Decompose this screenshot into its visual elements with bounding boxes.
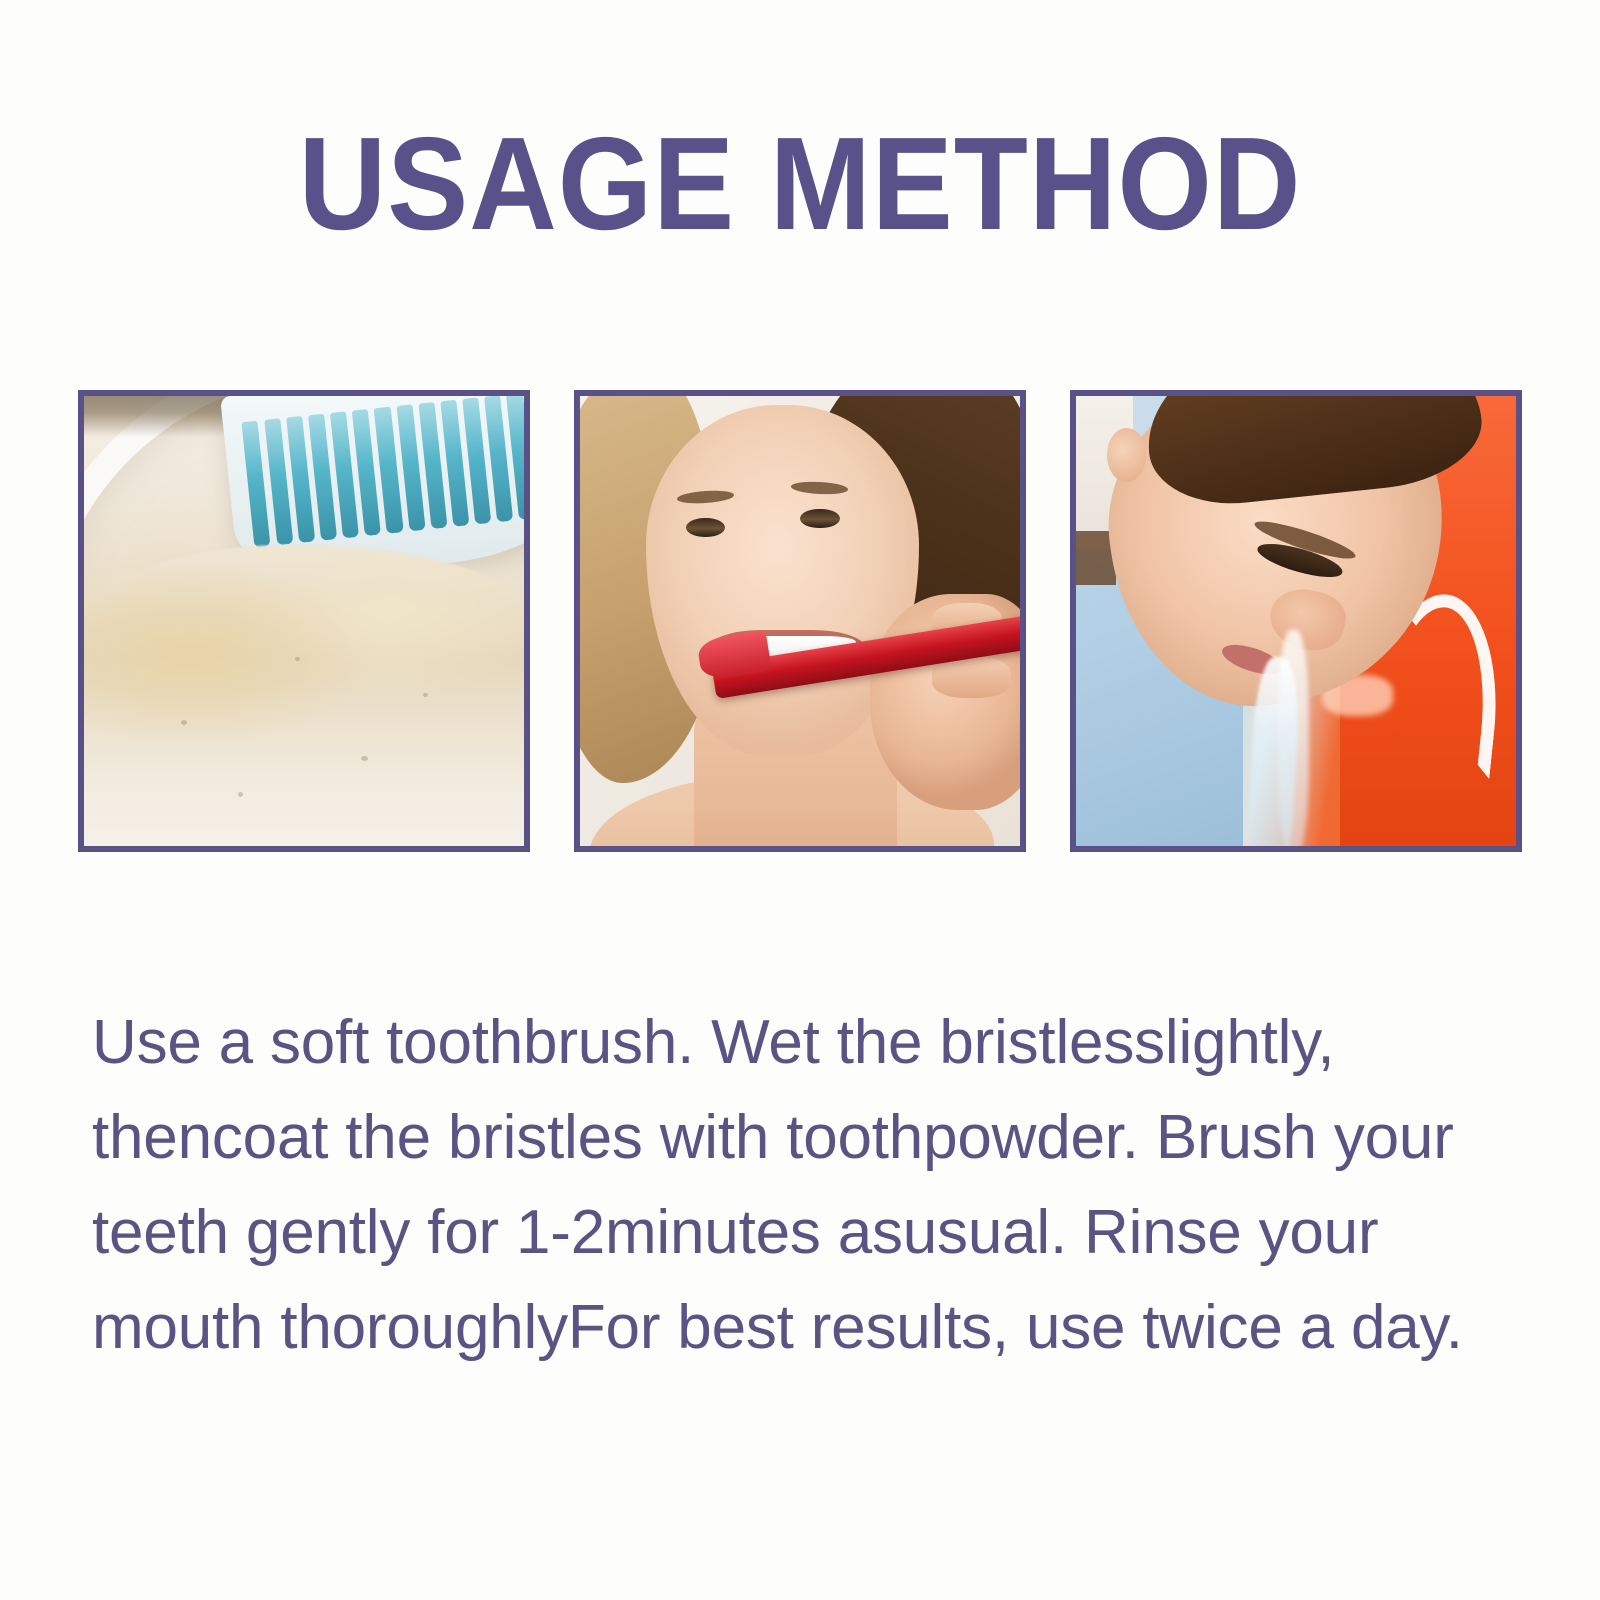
page-title: USAGE METHOD	[299, 118, 1302, 250]
finger	[932, 657, 1011, 698]
usage-instructions: Use a soft toothbrush. Wet the bristless…	[92, 995, 1512, 1375]
usage-method-infographic: USAGE METHOD	[0, 0, 1600, 1600]
eye-right	[800, 509, 840, 529]
gallery-item-woman-brushing-teeth	[574, 390, 1026, 852]
ear	[1107, 428, 1147, 482]
image-gallery	[78, 390, 1522, 852]
page-title-container: USAGE METHOD	[0, 118, 1600, 250]
woman-rinsing-mouth-image	[1076, 396, 1516, 846]
powder-mound	[84, 545, 524, 847]
gallery-item-woman-rinsing-mouth	[1070, 390, 1522, 852]
powder-speck	[181, 720, 187, 725]
eye-left	[686, 518, 726, 538]
powder-speck	[238, 792, 243, 797]
woman-brushing-teeth-image	[580, 396, 1020, 846]
powder-speck	[423, 693, 428, 697]
gallery-item-toothpowder-with-brush	[78, 390, 530, 852]
toothpowder-with-brush-image	[84, 396, 524, 846]
